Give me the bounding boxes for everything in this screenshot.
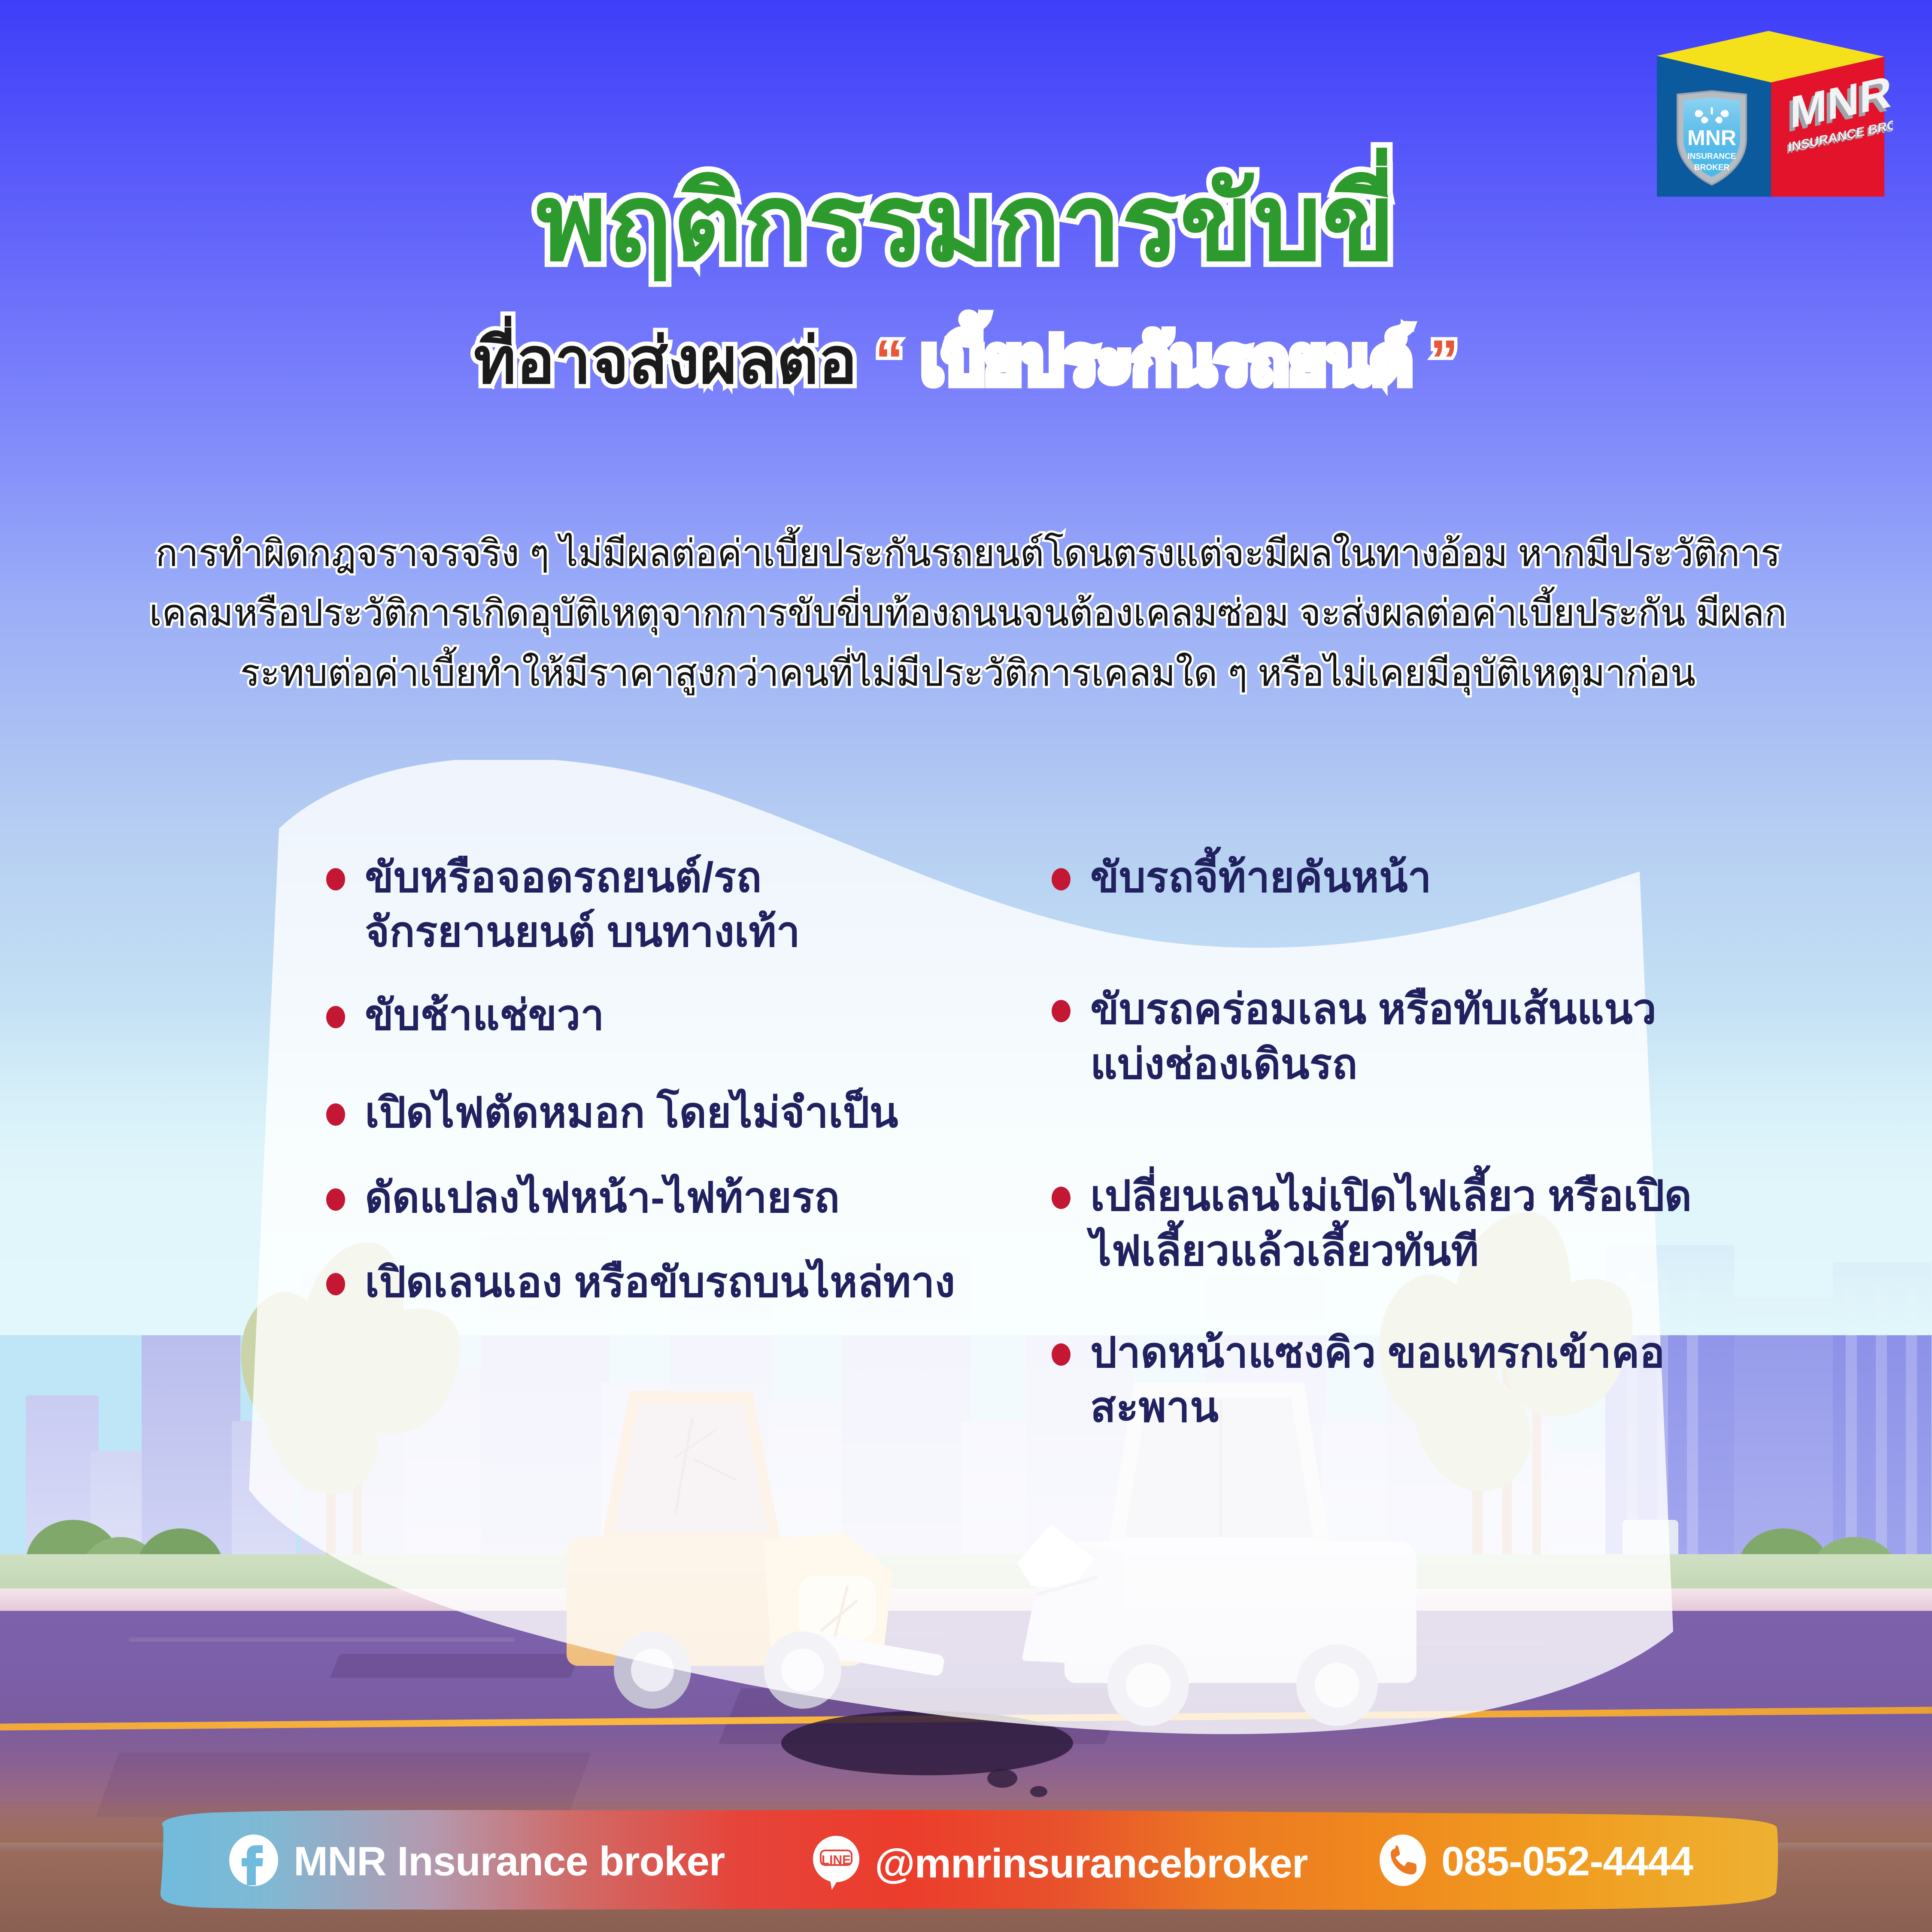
list-item-label: ขับรถคร่อมเลน หรือทับเส้นแนวแบ่งช่องเดิน…: [1090, 982, 1695, 1091]
list-item-label: เปิดไฟตัดหมอก โดยไม่จำเป็น: [365, 1085, 898, 1140]
page-title: พฤติกรรมการขับขี่: [0, 166, 1932, 279]
list-column-right: ขับรถจี้ท้ายคันหน้า ขับรถคร่อมเลน หรือทั…: [1052, 850, 1695, 1435]
facebook-icon: [228, 1834, 279, 1889]
page-subtitle: ที่อาจส่งผลต่อ “ เบี้ยประกันรถยนต์ ”: [0, 322, 1932, 399]
line-icon: LINE: [812, 1834, 860, 1893]
list-item: ขับหรือจอดรถยนต์/รถจักรยานยนต์ บนทางเท้า: [326, 850, 970, 960]
phone-icon: [1379, 1834, 1427, 1889]
facebook-label: MNR Insurance broker: [294, 1838, 725, 1885]
list-item-label: ขับช้าแช่ขวา: [365, 988, 604, 1042]
bullet-dot-icon: [326, 1188, 345, 1211]
svg-text:INSURANCE: INSURANCE: [1688, 152, 1736, 161]
bullet-dot-icon: [1052, 868, 1071, 890]
bullet-dot-icon: [326, 1273, 345, 1295]
bullet-dot-icon: [326, 1006, 345, 1028]
line-label: @mnrinsurancebroker: [875, 1840, 1307, 1887]
contact-facebook[interactable]: MNR Insurance broker: [228, 1834, 725, 1889]
list-item-label: ปาดหน้าแซงคิว ขอแทรกเข้าคอสะพาน: [1090, 1325, 1695, 1435]
bullet-dot-icon: [1052, 1000, 1071, 1022]
bullet-dot-icon: [326, 868, 345, 890]
quote-close: ”: [1430, 328, 1458, 392]
list-column-left: ขับหรือจอดรถยนต์/รถจักรยานยนต์ บนทางเท้า…: [326, 850, 970, 1309]
list-item: ขับรถจี้ท้ายคันหน้า: [1052, 850, 1695, 905]
list-item: เปลี่ยนเลนไม่เปิดไฟเลี้ยว หรือเปิดไฟเลี้…: [1052, 1169, 1695, 1278]
list-item-label: ดัดแปลงไฟหน้า-ไฟท้ายรถ: [365, 1170, 840, 1225]
list-item: เปิดไฟตัดหมอก โดยไม่จำเป็น: [326, 1085, 970, 1140]
subtitle-prefix: ที่อาจส่งผลต่อ: [474, 325, 857, 397]
oil-drop: [987, 1769, 1017, 1788]
list-item-label: เปลี่ยนเลนไม่เปิดไฟเลี้ยว หรือเปิดไฟเลี้…: [1090, 1169, 1695, 1278]
quote-open: “: [875, 328, 904, 392]
contact-line[interactable]: LINE @mnrinsurancebroker: [812, 1834, 1307, 1893]
list-item: เปิดเลนเอง หรือขับรถบนไหล่ทาง: [326, 1255, 970, 1309]
bullet-dot-icon: [1052, 1187, 1071, 1209]
list-item: ดัดแปลงไฟหน้า-ไฟท้ายรถ: [326, 1170, 970, 1225]
behaviour-lists: ขับหรือจอดรถยนต์/รถจักรยานยนต์ บนทางเท้า…: [0, 850, 1932, 1692]
bullet-dot-icon: [326, 1103, 345, 1126]
bullet-dot-icon: [1052, 1343, 1071, 1366]
phone-label: 085-052-4444: [1441, 1838, 1693, 1885]
oil-drop: [1030, 1786, 1047, 1797]
contact-phone[interactable]: 085-052-4444: [1379, 1834, 1693, 1889]
svg-text:MNR: MNR: [1687, 126, 1736, 150]
subtitle-highlight: เบี้ยประกันรถยนต์: [921, 325, 1412, 397]
list-item-label: ขับรถจี้ท้ายคันหน้า: [1090, 850, 1432, 905]
list-item-label: เปิดเลนเอง หรือขับรถบนไหล่ทาง: [365, 1255, 955, 1309]
list-item-label: ขับหรือจอดรถยนต์/รถจักรยานยนต์ บนทางเท้า: [365, 850, 970, 960]
body-paragraph: การทำผิดกฎจราจรจริง ๆ ไม่มีผลต่อค่าเบี้ย…: [142, 524, 1794, 703]
contact-footer: MNR Insurance broker LINE @mnrinsuranceb…: [151, 1807, 1782, 1919]
list-item: ปาดหน้าแซงคิว ขอแทรกเข้าคอสะพาน: [1052, 1325, 1695, 1435]
list-item: ขับรถคร่อมเลน หรือทับเส้นแนวแบ่งช่องเดิน…: [1052, 982, 1695, 1091]
list-item: ขับช้าแช่ขวา: [326, 988, 970, 1042]
